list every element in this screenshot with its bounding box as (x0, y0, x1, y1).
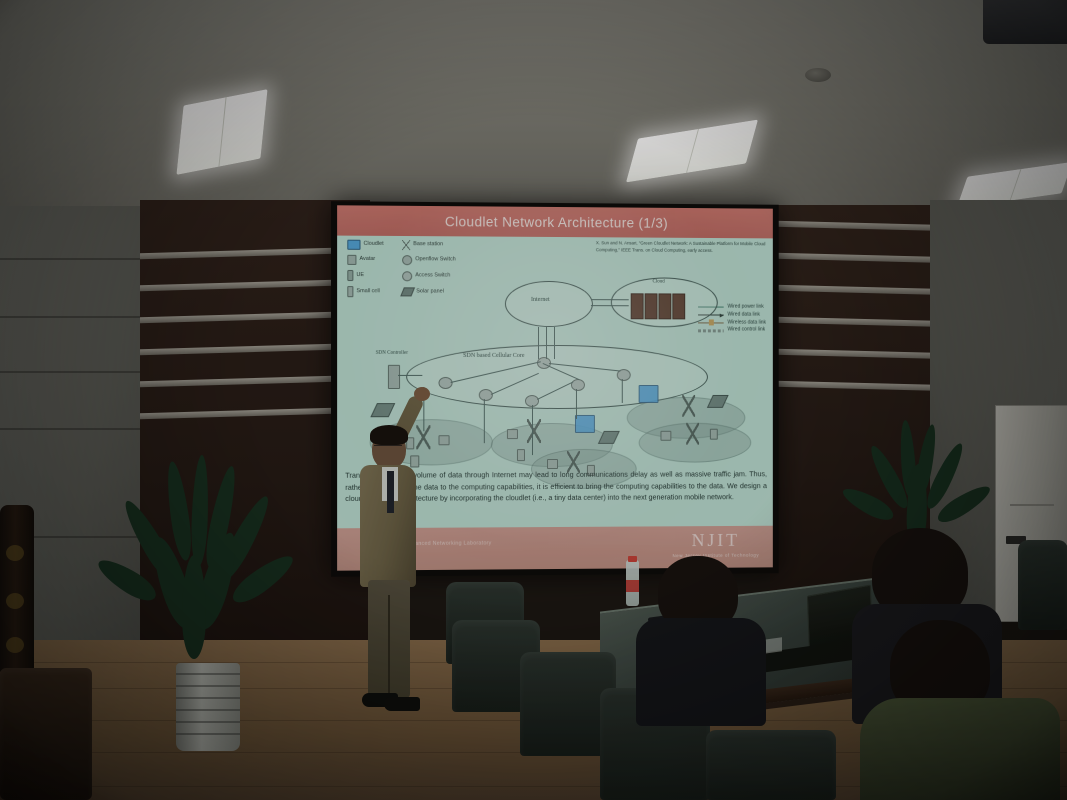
sdn-controller-icon (388, 365, 400, 389)
ceiling-light-2 (626, 120, 758, 183)
chair[interactable] (706, 730, 836, 800)
link (622, 379, 623, 403)
cloudlet (639, 385, 659, 403)
server-rack (631, 293, 644, 319)
link (591, 299, 629, 300)
link (484, 399, 485, 443)
audience-torso (860, 698, 1060, 800)
base-station (527, 419, 541, 443)
ue (710, 429, 718, 440)
presenter-hand (414, 387, 430, 401)
njit-logo: NJIT New Jersey Institute of Technology (672, 530, 759, 558)
server-rack (645, 293, 658, 319)
slide-title: Cloudlet Network Architecture (1/3) (337, 205, 773, 238)
ue (517, 449, 525, 461)
chair[interactable] (1018, 540, 1067, 630)
ceiling-light-1 (176, 89, 267, 175)
internet-cloud (505, 281, 593, 327)
presenter-shoe (384, 697, 420, 711)
glasses-icon (374, 445, 402, 453)
link (532, 405, 533, 455)
presentation-photo-scene: Cloudlet Network Architecture (1/3) Clou… (0, 0, 1067, 800)
link (546, 327, 547, 359)
link (554, 327, 555, 359)
audience-torso (636, 618, 766, 726)
presenter (356, 425, 436, 735)
ue (507, 429, 518, 439)
ceiling-projector-mount (983, 0, 1067, 44)
sdn-controller-label: SDN Controller (376, 351, 408, 356)
ceiling (0, 0, 1067, 212)
link (538, 327, 539, 359)
ue (660, 431, 671, 441)
njit-mark: NJIT (672, 530, 759, 551)
water-bottle-1 (626, 560, 639, 606)
link (591, 305, 629, 306)
decorative-vase (0, 505, 34, 675)
presenter-hair (370, 425, 408, 445)
potted-plant-left (100, 455, 320, 755)
presenter-tie (387, 471, 394, 513)
chair[interactable] (0, 668, 92, 800)
base-station (686, 423, 699, 445)
base-station (682, 395, 695, 417)
solar-panel (370, 403, 395, 417)
link (576, 389, 577, 419)
server-rack (672, 293, 685, 319)
plant-pot (176, 663, 240, 751)
cloud-label: Cloud (653, 279, 665, 284)
ceiling-vent (805, 68, 831, 82)
cloudlet (575, 415, 595, 433)
server-rack (658, 293, 671, 319)
ue (547, 459, 558, 469)
cellular-core-label: SDN based Cellular Core (459, 353, 529, 361)
ue (438, 435, 449, 445)
link (398, 375, 422, 376)
internet-label: Internet (531, 297, 550, 303)
